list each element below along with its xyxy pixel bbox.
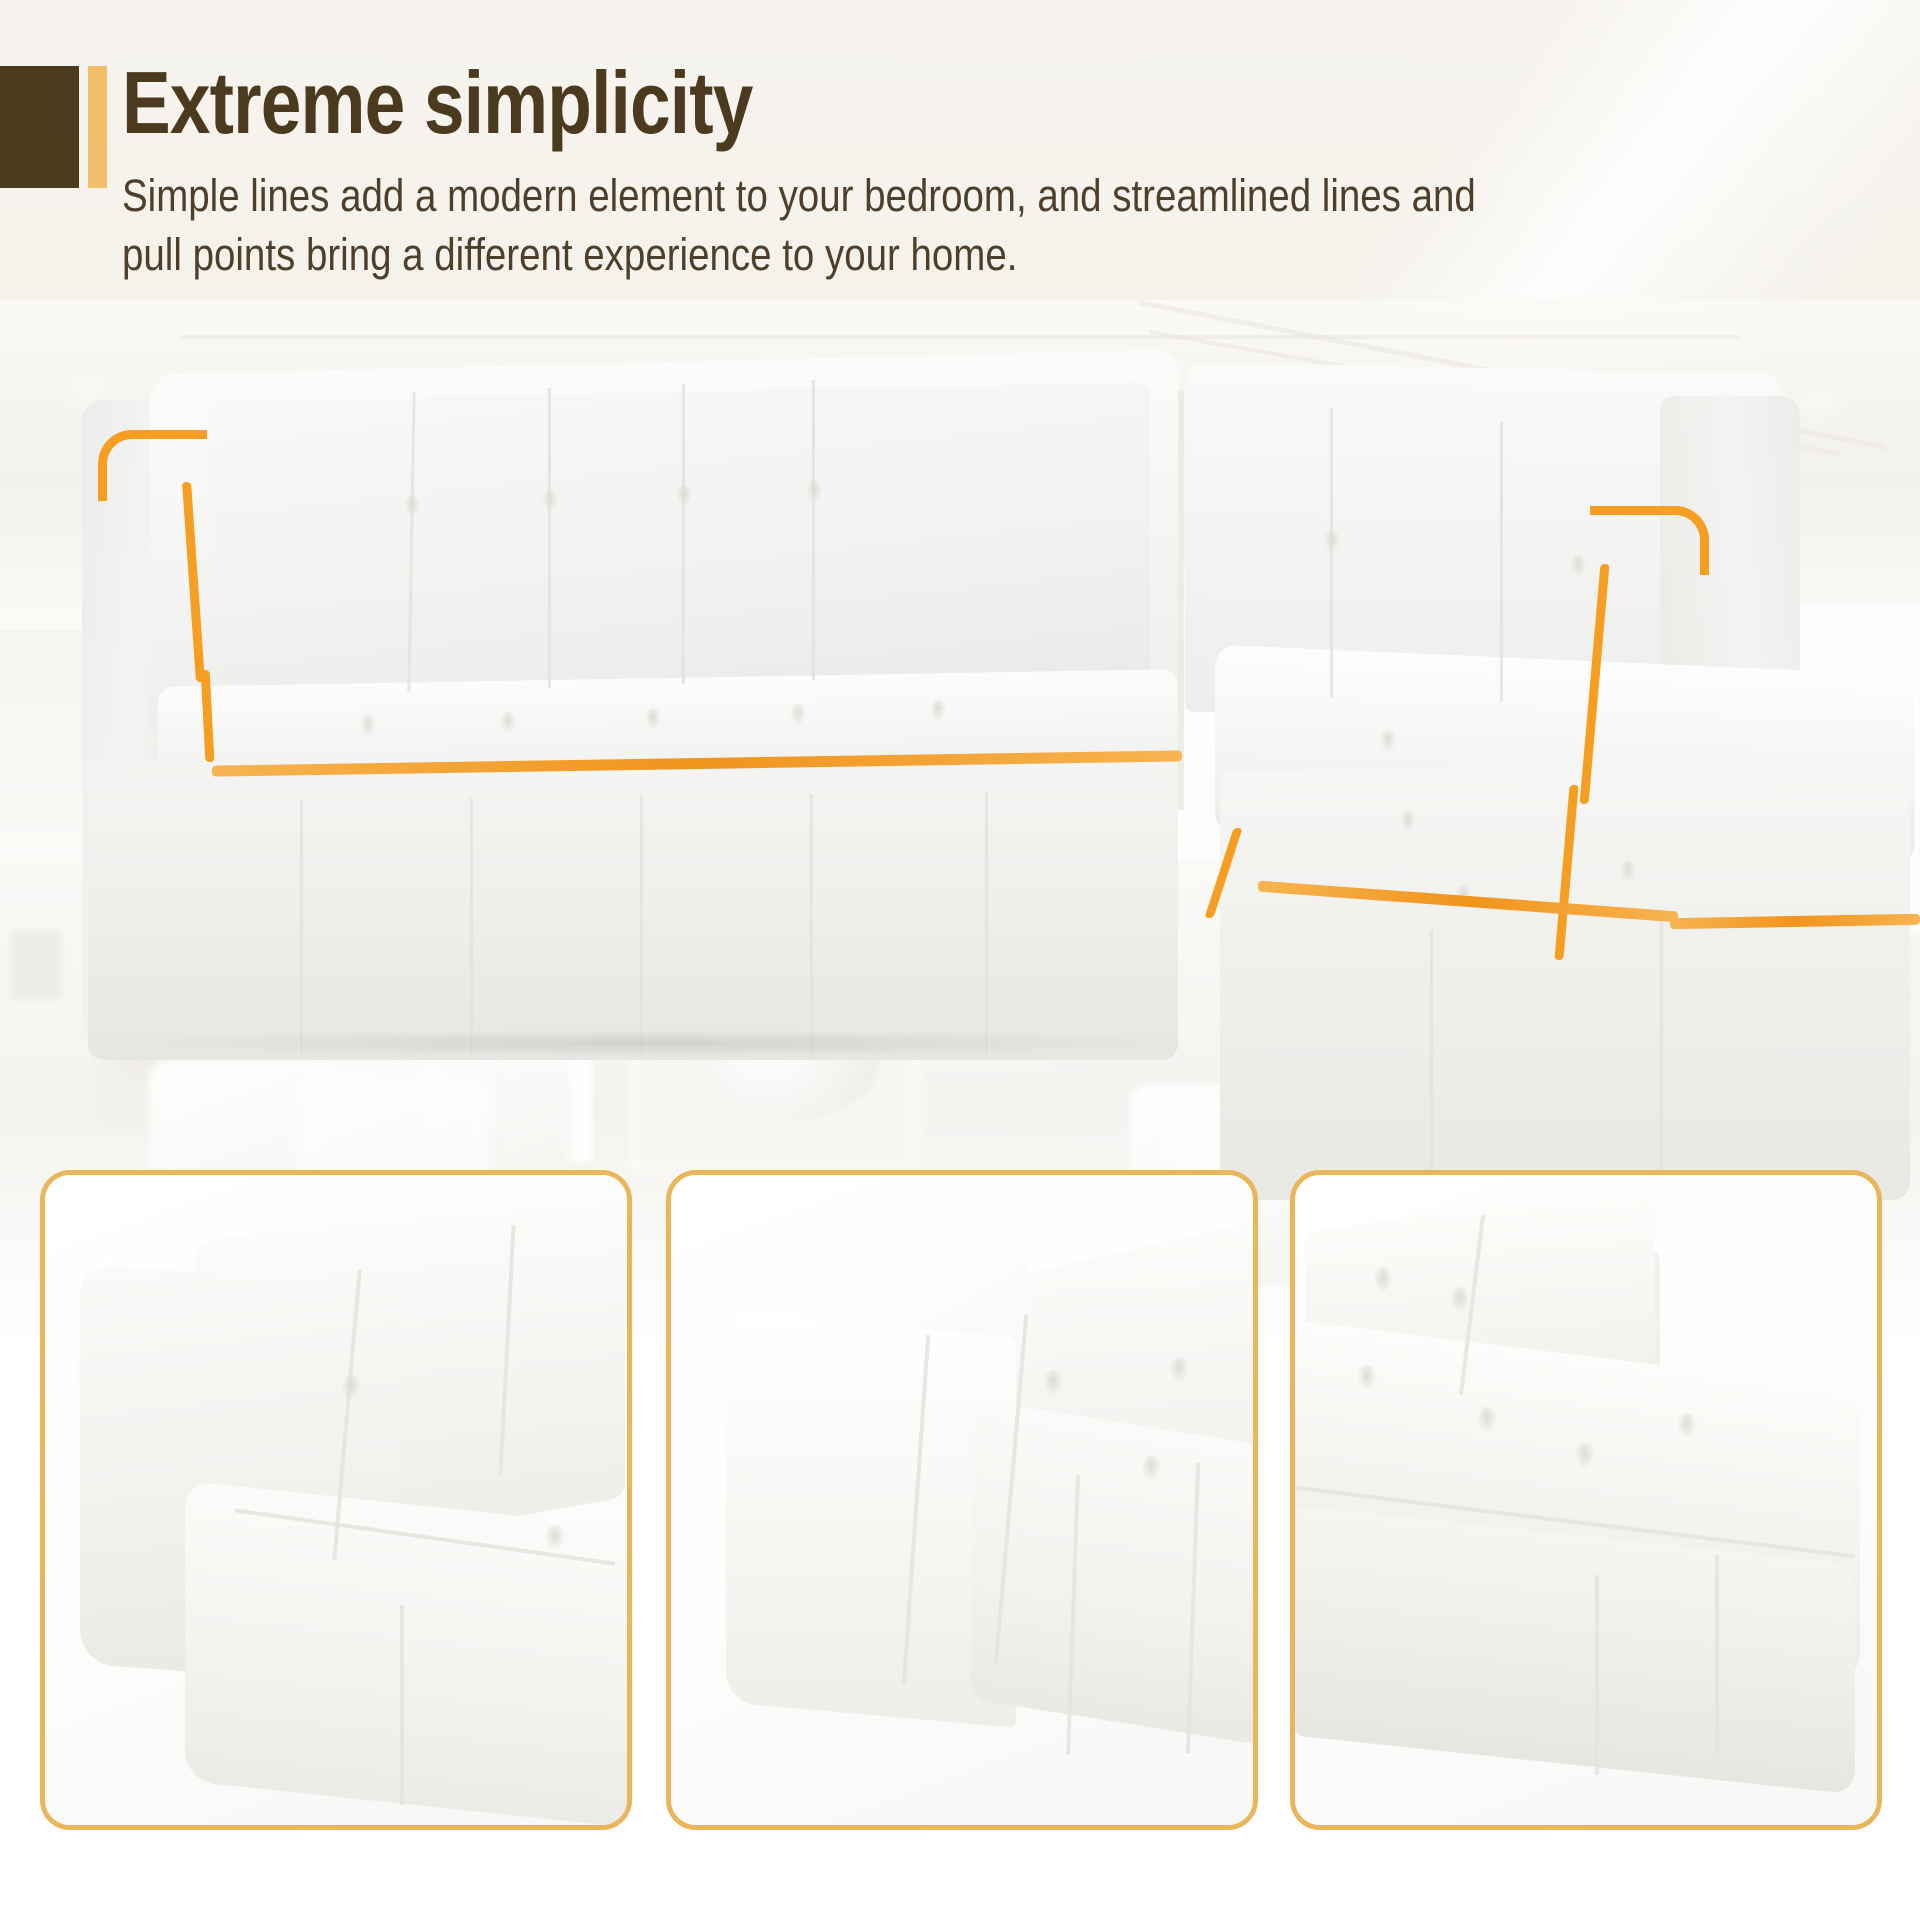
page-subtitle: Simple lines add a modern element to you… <box>122 166 1524 285</box>
panel-1-tuft-backrest <box>341 1375 361 1401</box>
seam-right-base-2 <box>1660 915 1663 1200</box>
panel-2-tuft-back-1 <box>1043 1370 1063 1396</box>
page-subtitle-line-2: pull points bring a different experience… <box>122 225 1524 284</box>
tuft-seat-1 <box>360 715 376 737</box>
seam-base-2 <box>470 798 473 1058</box>
panel-2-tuft-back-2 <box>1169 1357 1189 1383</box>
thumbnail-panel-1[interactable] <box>40 1170 632 1830</box>
seam-right-back-1 <box>1330 408 1333 698</box>
panel-3-tuft-seat-3 <box>1575 1443 1595 1469</box>
tuft-seat-2 <box>500 712 516 734</box>
tuft-back-1 <box>404 495 420 517</box>
tuft-seat-4 <box>790 704 806 726</box>
page-title: Extreme simplicity <box>122 58 753 148</box>
product-banner: Extreme simplicity Simple lines add a mo… <box>0 0 1920 1920</box>
seam-base-1 <box>300 800 303 1058</box>
panel-3-tuft-back-1 <box>1373 1267 1393 1293</box>
header-marker-square <box>0 66 79 188</box>
panel-3-tuft-back-2 <box>1450 1287 1470 1313</box>
tuft-back-3 <box>676 485 692 507</box>
seam-right-back-2 <box>1500 422 1503 702</box>
panel-1-seam-seat-vertical <box>400 1605 404 1805</box>
seam-module-gap <box>1178 390 1184 810</box>
panel-3-tuft-seat-4 <box>1677 1413 1697 1439</box>
tuft-back-4 <box>806 480 822 502</box>
seam-base-3 <box>640 796 643 1058</box>
seam-base-4 <box>810 794 813 1058</box>
tuft-right-seat-4 <box>1620 860 1636 882</box>
panel-3-seam-front-vertical <box>1595 1575 1599 1775</box>
header-marker-bar <box>88 66 107 188</box>
seam-back-4 <box>812 380 815 680</box>
page-subtitle-line-1: Simple lines add a modern element to you… <box>122 166 1524 225</box>
thumbnail-panel-2[interactable] <box>666 1170 1258 1830</box>
panel-3-tuft-seat-2 <box>1477 1407 1497 1433</box>
tuft-right-seat-2 <box>1400 810 1416 832</box>
tuft-back-2 <box>542 490 558 512</box>
seam-base-5 <box>985 792 988 1058</box>
tuft-right-back-1 <box>1324 530 1340 552</box>
panel-2-tuft-seat-1 <box>1141 1455 1161 1481</box>
tuft-seat-3 <box>645 708 661 730</box>
hero-sofa-image <box>0 330 1920 970</box>
seam-back-3 <box>682 384 685 684</box>
sofa-left-base <box>88 760 1178 1060</box>
seam-right-base-1 <box>1430 930 1433 1200</box>
tuft-right-back-2 <box>1570 555 1586 577</box>
sofa-left-back-cushion <box>210 382 1150 702</box>
thumbnail-panel-3[interactable] <box>1290 1170 1882 1830</box>
panel-3-seam-front-vertical-2 <box>1715 1555 1719 1755</box>
seam-back-2 <box>548 388 551 688</box>
tuft-right-seat-1 <box>1380 730 1396 752</box>
hero-sofa-shadow <box>120 1030 1180 1056</box>
tuft-seat-5 <box>930 700 946 722</box>
panel-1-tuft-seat <box>545 1525 565 1551</box>
panel-3-tuft-seat-1 <box>1357 1365 1377 1391</box>
